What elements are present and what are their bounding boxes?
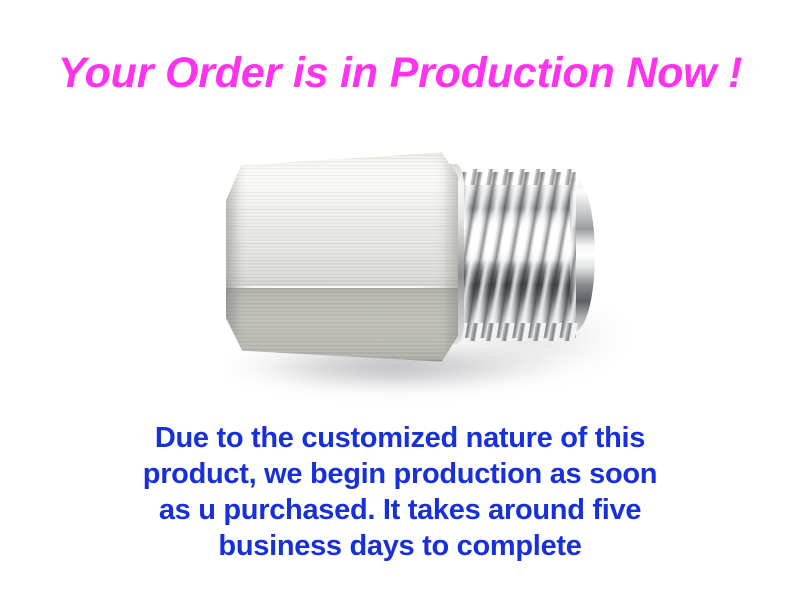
disclaimer-line-4: business days to complete <box>0 528 800 564</box>
hex-facet-upper <box>226 148 458 288</box>
disclaimer-line-2: product, we begin production as soon <box>0 456 800 492</box>
promo-banner: Your Order is in Production Now ! Due to… <box>0 0 800 600</box>
hex-body <box>226 148 458 366</box>
page-title: Your Order is in Production Now ! <box>0 48 800 98</box>
hex-facet-seam <box>226 286 458 288</box>
product-photo <box>190 120 650 410</box>
hex-chamfer-left <box>226 148 247 366</box>
hex-chamfer-right <box>435 148 458 366</box>
hex-rim-highlight <box>235 148 448 156</box>
disclaimer-line-3: as u purchased. It takes around five <box>0 492 800 528</box>
disclaimer-text: Due to the customized nature of this pro… <box>0 420 800 564</box>
disclaimer-line-1: Due to the customized nature of this <box>0 420 800 456</box>
